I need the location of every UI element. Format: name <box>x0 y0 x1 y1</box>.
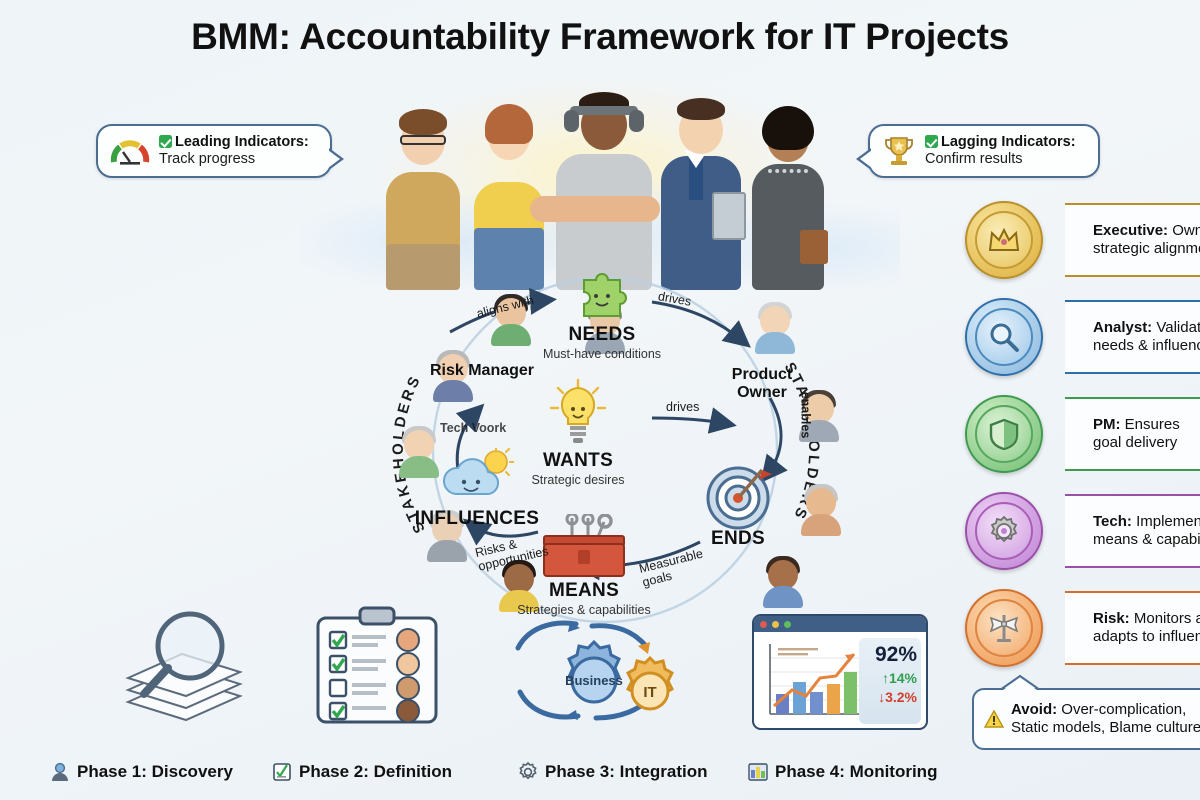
role-desc: Implements <box>1136 513 1200 530</box>
trophy-icon <box>882 135 916 167</box>
role-card-risk-text: Risk: Monitors and adapts to influences <box>1093 610 1200 647</box>
relation-drives-mid: drives <box>666 400 699 414</box>
role-desc2: strategic alignment <box>1093 240 1200 257</box>
target-icon <box>700 456 776 532</box>
pm-badge <box>965 395 1043 473</box>
avoid-line2: Static models, Blame culture <box>1011 719 1200 736</box>
handshake-icon <box>530 196 660 222</box>
phase-3-illustration: Business IT <box>500 614 700 730</box>
role-name: Risk: <box>1093 610 1130 627</box>
role-name: PM: <box>1093 416 1121 433</box>
role-desc2: goal delivery <box>1093 434 1177 451</box>
leading-sub: Track progress <box>159 151 309 168</box>
phase-label-1[interactable]: Phase 1: Discovery <box>50 762 233 782</box>
stakeholder-face <box>752 300 798 354</box>
infographic-canvas: BMM: Accountability Framework for IT Pro… <box>0 0 1200 800</box>
node-needs-sub: Must-have conditions <box>502 347 702 361</box>
team-member-4 <box>656 84 746 290</box>
avoid-label: Avoid: <box>1011 701 1057 718</box>
bmm-cycle-diagram: STAKEHOLDERS STAKEHOLDERS <box>300 270 920 630</box>
dashboard-titlebar <box>754 616 926 632</box>
phase-4-dashboard: 92% ↑14% ↓3.2% <box>752 614 928 730</box>
role-card-pm[interactable]: PM: Ensures goal delivery <box>1065 397 1200 471</box>
weathervane-icon <box>988 612 1020 644</box>
callout-tail-inner <box>328 150 340 168</box>
role-card-executive-text: Executive: Owns strategic alignment <box>1093 222 1200 259</box>
shield-icon <box>989 418 1019 450</box>
dashboard-kpis: 92% ↑14% ↓3.2% <box>859 638 921 724</box>
puzzle-piece-icon <box>576 270 628 322</box>
cloud-sun-icon <box>440 448 514 502</box>
phase-label-2[interactable]: Phase 2: Definition <box>272 762 452 782</box>
phase-2-text: Phase 2: Definition <box>299 762 452 782</box>
leading-heading: Leading Indicators: <box>175 134 309 150</box>
window-dot-red <box>760 621 767 628</box>
node-needs: NEEDS Must-have conditions <box>502 324 702 361</box>
risk-badge <box>965 589 1043 667</box>
avoid-tail <box>998 674 1042 690</box>
relation-enables: enables <box>798 392 812 439</box>
role-card-tech-text: Tech: Implements means & capabilities <box>1093 513 1200 550</box>
role-risk-manager: Risk Manager <box>422 362 542 380</box>
phase-2-illustration <box>308 604 448 728</box>
check-icon <box>925 135 938 148</box>
avoid-line1: Over-complication, <box>1061 701 1186 718</box>
lagging-sub: Confirm results <box>925 151 1076 168</box>
gear-icon <box>518 762 538 782</box>
relation-feedback: Tech Voork <box>440 422 506 436</box>
gear-right-label: IT <box>643 684 656 701</box>
role-desc2: needs & influences <box>1093 337 1200 354</box>
node-ends-title: ENDS <box>638 528 838 550</box>
kpi-down: ↓3.2% <box>863 689 917 705</box>
check-icon <box>159 135 172 148</box>
role-desc: Monitors and <box>1134 610 1200 627</box>
gear-icon <box>988 515 1020 547</box>
role-desc: Owns <box>1172 222 1200 239</box>
phase-3-text: Phase 3: Integration <box>545 762 707 782</box>
team-member-1 <box>380 95 466 290</box>
phase-label-4[interactable]: Phase 4: Monitoring <box>748 762 937 782</box>
magnifier-icon <box>988 321 1020 353</box>
gauge-icon <box>110 136 150 166</box>
warning-icon <box>984 710 1004 728</box>
window-dot-green <box>784 621 791 628</box>
role-desc2: means & capabilities <box>1093 531 1200 548</box>
crown-badge <box>965 201 1043 279</box>
role-name: Executive: <box>1093 222 1168 239</box>
lagging-heading: Lagging Indicators: <box>941 134 1076 150</box>
role-card-analyst[interactable]: Analyst: Validates needs & influences <box>1065 300 1200 374</box>
window-dot-yellow <box>772 621 779 628</box>
role-card-analyst-text: Analyst: Validates needs & influences <box>1093 319 1200 356</box>
role-name: Tech: <box>1093 513 1132 530</box>
callout-tail-inner <box>860 150 872 168</box>
phase-label-3[interactable]: Phase 3: Integration <box>518 762 707 782</box>
tech-badge <box>965 492 1043 570</box>
role-desc: Validates <box>1156 319 1200 336</box>
page-title: BMM: Accountability Framework for IT Pro… <box>0 16 1200 58</box>
stakeholder-face <box>396 424 442 478</box>
team-member-2 <box>466 88 552 290</box>
analyst-badge <box>965 298 1043 376</box>
callout-leading-indicators: Leading Indicators: Track progress <box>96 124 332 178</box>
team-illustration <box>380 78 830 290</box>
avoid-text: Avoid: Over-complication, Static models,… <box>1011 701 1200 738</box>
kpi-up: ↑14% <box>863 670 917 686</box>
team-member-3 <box>552 78 656 290</box>
role-desc: Ensures <box>1125 416 1180 433</box>
kpi-main: 92% <box>863 643 917 667</box>
lightbulb-icon <box>548 378 608 446</box>
role-card-risk[interactable]: Risk: Monitors and adapts to influences <box>1065 591 1200 665</box>
phase-1-text: Phase 1: Discovery <box>77 762 233 782</box>
callout-lagging-indicators: Lagging Indicators: Confirm results <box>868 124 1100 178</box>
role-card-tech[interactable]: Tech: Implements means & capabilities <box>1065 494 1200 568</box>
role-card-pm-text: PM: Ensures goal delivery <box>1093 416 1180 453</box>
role-card-executive[interactable]: Executive: Owns strategic alignment <box>1065 203 1200 277</box>
node-ends: ENDS <box>638 528 838 550</box>
stakeholder-face <box>760 554 806 608</box>
phase-1-illustration <box>110 608 280 726</box>
avoid-callout: Avoid: Over-complication, Static models,… <box>972 688 1200 750</box>
role-desc2: adapts to influences <box>1093 628 1200 645</box>
checklist-icon <box>272 762 292 782</box>
gear-left-label: Business <box>565 673 623 688</box>
bar-chart-icon <box>748 762 768 782</box>
team-member-5 <box>746 90 830 290</box>
person-search-icon <box>50 762 70 782</box>
node-needs-title: NEEDS <box>502 324 702 346</box>
dashboard-chart <box>762 642 862 722</box>
toolbox-icon <box>538 514 630 580</box>
role-name: Analyst: <box>1093 319 1152 336</box>
phase-4-text: Phase 4: Monitoring <box>775 762 937 782</box>
crown-icon <box>987 226 1021 254</box>
